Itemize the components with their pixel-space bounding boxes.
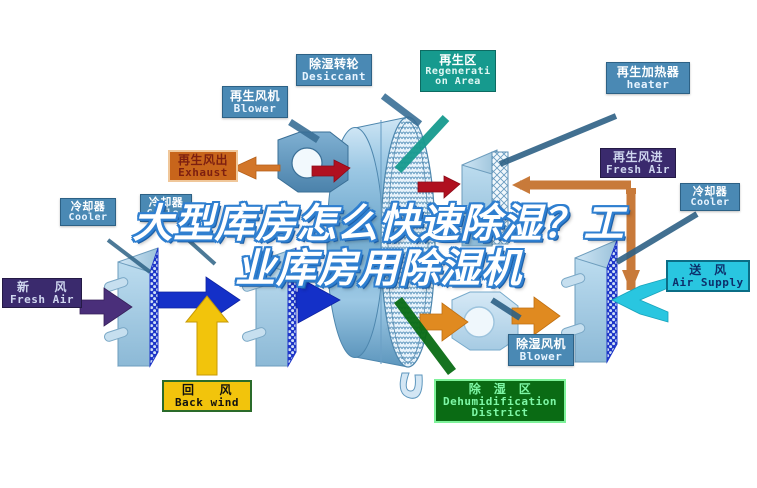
label-regeneration-heater-cn: 再生加热器: [609, 66, 687, 79]
label-cooler-left-en: Cooler: [63, 213, 113, 224]
label-cooler-middle: 冷却器 Cooler: [140, 194, 192, 222]
label-regeneration-heater: 再生加热器 heater: [606, 62, 690, 94]
label-fresh-air-en: Fresh Air: [5, 294, 79, 306]
label-dehumidification-district-cn: 除 湿 区: [438, 383, 562, 396]
label-desiccant-wheel-en: Desiccant: [299, 71, 369, 83]
label-air-supply: 送 风 Air Supply: [666, 260, 750, 292]
label-dehumidification-district-en2: District: [438, 407, 562, 419]
label-dehumidification-district: 除 湿 区 Dehumidification District: [434, 379, 566, 423]
label-regeneration-fresh-air-in-cn: 再生风进: [603, 151, 673, 164]
label-regeneration-area-cn: 再生区: [423, 54, 493, 67]
label-cooler-middle-en: Cooler: [143, 209, 189, 220]
label-exhaust: 再生风出 Exhaust: [168, 150, 238, 182]
label-regeneration-area-en2: on Area: [423, 77, 493, 88]
label-regeneration-blower: 再生风机 Blower: [222, 86, 288, 118]
label-regeneration-blower-cn: 再生风机: [225, 90, 285, 103]
diagram-canvas: XI: [0, 0, 757, 488]
label-back-wind: 回 风 Back wind: [162, 380, 252, 412]
condensate-drain: [400, 373, 422, 398]
label-cooler-left: 冷却器 Cooler: [60, 198, 116, 226]
label-regeneration-fresh-air-in-en: Fresh Air: [603, 164, 673, 176]
cooler-coil-middle: [241, 248, 296, 366]
label-exhaust-en: Exhaust: [172, 167, 234, 179]
label-air-supply-en: Air Supply: [670, 277, 746, 289]
label-back-wind-cn: 回 风: [166, 384, 248, 397]
label-cooler-left-cn: 冷却器: [63, 201, 113, 213]
label-cooler-right-cn: 冷却器: [683, 186, 737, 198]
label-cooler-right-en: Cooler: [683, 198, 737, 209]
label-dehumidification-blower: 除湿风机 Blower: [508, 334, 574, 366]
label-regeneration-heater-en: heater: [609, 79, 687, 91]
label-air-supply-cn: 送 风: [670, 264, 746, 277]
label-dehumidification-blower-cn: 除湿风机: [511, 338, 571, 351]
label-cooler-right: 冷却器 Cooler: [680, 183, 740, 211]
label-back-wind-en: Back wind: [166, 397, 248, 409]
label-exhaust-cn: 再生风出: [172, 154, 234, 167]
label-desiccant-wheel-cn: 除湿转轮: [299, 58, 369, 71]
exhaust-arrow: [232, 157, 280, 179]
label-regeneration-blower-en: Blower: [225, 103, 285, 115]
label-regeneration-fresh-air-in: 再生风进 Fresh Air: [600, 148, 676, 178]
label-fresh-air-cn: 新 风: [5, 281, 79, 294]
label-desiccant-wheel: 除湿转轮 Desiccant: [296, 54, 372, 86]
label-fresh-air: 新 风 Fresh Air: [2, 278, 82, 308]
label-regeneration-area: 再生区 Regenerati on Area: [420, 50, 496, 92]
label-dehumidification-blower-en: Blower: [511, 351, 571, 363]
svg-text:XI: XI: [385, 320, 396, 333]
label-cooler-middle-cn: 冷却器: [143, 197, 189, 209]
